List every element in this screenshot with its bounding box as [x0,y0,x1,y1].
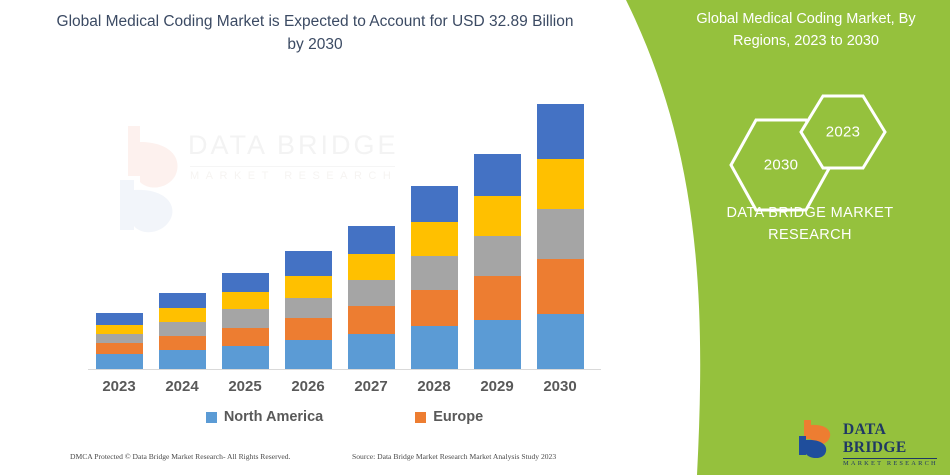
bar-segment-2026-europe [285,318,332,340]
bar-2024 [159,293,206,370]
bar-segment-2026-series-4 [285,276,332,298]
bar-segment-2023-north-america [96,354,143,370]
x-tick-2023: 2023 [89,378,149,395]
bar-segment-2024-europe [159,336,206,350]
bar-2027 [348,226,395,370]
page-title: Global Medical Coding Market is Expected… [55,10,575,57]
x-tick-2024: 2024 [152,378,212,395]
bar-segment-2028-north-america [411,326,458,370]
bar-segment-2028-series-5 [411,186,458,222]
bar-segment-2030-series-5 [537,104,584,159]
bar-2030 [537,104,584,370]
bar-2023 [96,313,143,370]
bar-segment-2027-series-5 [348,226,395,254]
logo-rule [843,458,937,459]
bar-2029 [474,154,521,370]
chart-legend: North AmericaEurope [88,405,601,429]
bar-segment-2028-series-4 [411,222,458,256]
bar-segment-2025-series-3 [222,309,269,328]
x-axis-line [88,369,601,370]
bar-segment-2027-series-4 [348,254,395,280]
bar-segment-2026-north-america [285,340,332,370]
legend-swatch-icon [415,412,426,423]
bar-2025 [222,273,269,370]
legend-item-north-america[interactable]: North America [206,409,323,425]
bar-2026 [285,251,332,370]
bar-segment-2024-series-3 [159,322,206,336]
legend-swatch-icon [206,412,217,423]
x-tick-2030: 2030 [530,378,590,395]
bar-segment-2023-europe [96,343,143,354]
brand-line-1: DATA BRIDGE MARKET [690,202,930,224]
bar-segment-2027-europe [348,306,395,334]
x-tick-2029: 2029 [467,378,527,395]
bar-segment-2024-north-america [159,350,206,370]
bar-segment-2027-series-3 [348,280,395,306]
hexagon-label-2023: 2023 [797,124,889,141]
bar-segment-2029-series-3 [474,236,521,276]
x-tick-2026: 2026 [278,378,338,395]
bar-segment-2025-north-america [222,346,269,370]
logo-wordmark: DATA BRIDGE MARKET RESEARCH [843,421,940,467]
infographic-poster: Global Medical Coding Market is Expected… [0,0,950,475]
bar-segment-2025-series-5 [222,273,269,292]
logo-main-text: DATA BRIDGE [843,421,940,457]
legend-item-europe[interactable]: Europe [415,409,483,425]
x-tick-2027: 2027 [341,378,401,395]
bar-segment-2029-series-5 [474,154,521,196]
x-axis-tick-labels: 20232024202520262027202820292030 [88,378,601,402]
bar-chart-plot-area [88,100,598,370]
bar-segment-2026-series-5 [285,251,332,276]
bar-segment-2025-series-4 [222,292,269,309]
data-bridge-logo: DATA BRIDGE MARKET RESEARCH [795,418,940,460]
hexagon-badge-2023: 2023 [797,92,889,172]
bar-segment-2029-north-america [474,320,521,370]
bar-segment-2027-north-america [348,334,395,370]
bar-segment-2030-series-3 [537,209,584,259]
footer-copyright: DMCA Protected © Data Bridge Market Rese… [70,452,290,461]
bar-segment-2029-europe [474,276,521,320]
bar-segment-2026-series-3 [285,298,332,318]
bar-segment-2024-series-5 [159,293,206,308]
right-panel-title: Global Medical Coding Market, By Regions… [670,8,942,53]
bar-segment-2023-series-4 [96,325,143,334]
bar-segment-2023-series-3 [96,334,143,343]
bar-segment-2028-europe [411,290,458,326]
bridge-logo-mark-icon [795,418,839,458]
bar-segment-2030-europe [537,259,584,314]
legend-label: North America [224,409,323,425]
bar-segment-2029-series-4 [474,196,521,236]
logo-sub-text: MARKET RESEARCH [843,460,940,467]
x-tick-2025: 2025 [215,378,275,395]
brand-name-block: DATA BRIDGE MARKET RESEARCH [690,202,930,247]
bar-segment-2024-series-4 [159,308,206,322]
bar-segment-2030-north-america [537,314,584,370]
bar-segment-2025-europe [222,328,269,346]
legend-label: Europe [433,409,483,425]
footer-source: Source: Data Bridge Market Research Mark… [352,452,556,461]
hexagon-badges: 2030 2023 [726,92,941,197]
footer: DMCA Protected © Data Bridge Market Rese… [0,452,630,472]
chart-pane: Global Medical Coding Market is Expected… [0,0,630,475]
bar-segment-2023-series-5 [96,313,143,325]
bar-2028 [411,186,458,370]
bar-segment-2030-series-4 [537,159,584,209]
x-tick-2028: 2028 [404,378,464,395]
brand-line-2: RESEARCH [690,224,930,246]
bar-segment-2028-series-3 [411,256,458,290]
